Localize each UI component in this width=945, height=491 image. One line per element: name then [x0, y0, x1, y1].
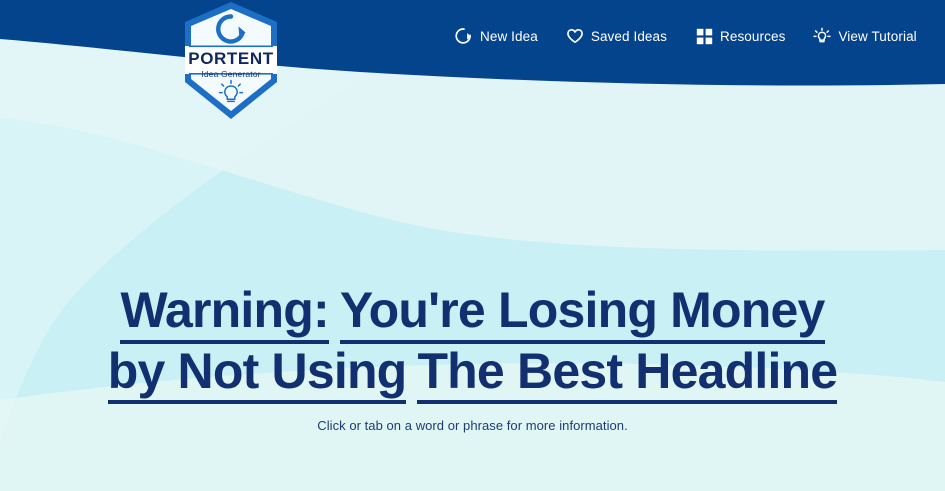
heart-icon	[566, 27, 584, 45]
nav-item-view-tutorial[interactable]: View Tutorial	[813, 27, 916, 45]
site-header	[0, 0, 945, 120]
headline-block: Warning:You're Losing Money by Not Using…	[0, 282, 945, 403]
nav-item-label: Saved Ideas	[591, 30, 667, 44]
lightbulb-icon	[813, 27, 831, 45]
nav-item-label: New Idea	[480, 30, 538, 44]
headline-segment[interactable]: The Best Headline	[417, 343, 837, 405]
generated-headline: Warning:You're Losing Money by Not Using…	[0, 282, 945, 403]
main-navigation: New Idea Saved Ideas Resources	[455, 27, 917, 45]
nav-item-resources[interactable]: Resources	[695, 27, 785, 45]
nav-item-label: View Tutorial	[838, 30, 916, 44]
nav-item-saved-ideas[interactable]: Saved Ideas	[566, 27, 667, 45]
nav-item-label: Resources	[720, 30, 785, 44]
header-navy-shape	[0, 0, 945, 120]
refresh-circle-icon	[455, 27, 473, 45]
logo-nameplate-rule-top	[189, 46, 273, 48]
grid-icon	[695, 27, 713, 45]
logo-tagline: Idea Generator	[176, 70, 286, 79]
headline-segment[interactable]: You're Losing Money	[340, 282, 825, 344]
headline-instructions: Click or tab on a word or phrase for mor…	[0, 418, 945, 433]
headline-segment[interactable]: by Not Using	[108, 343, 407, 405]
headline-segment[interactable]: Warning:	[120, 282, 328, 344]
logo-wordmark: PORTENT	[176, 50, 286, 67]
portent-logo[interactable]: PORTENT Idea Generator	[176, 0, 286, 122]
nav-item-new-idea[interactable]: New Idea	[455, 27, 538, 45]
